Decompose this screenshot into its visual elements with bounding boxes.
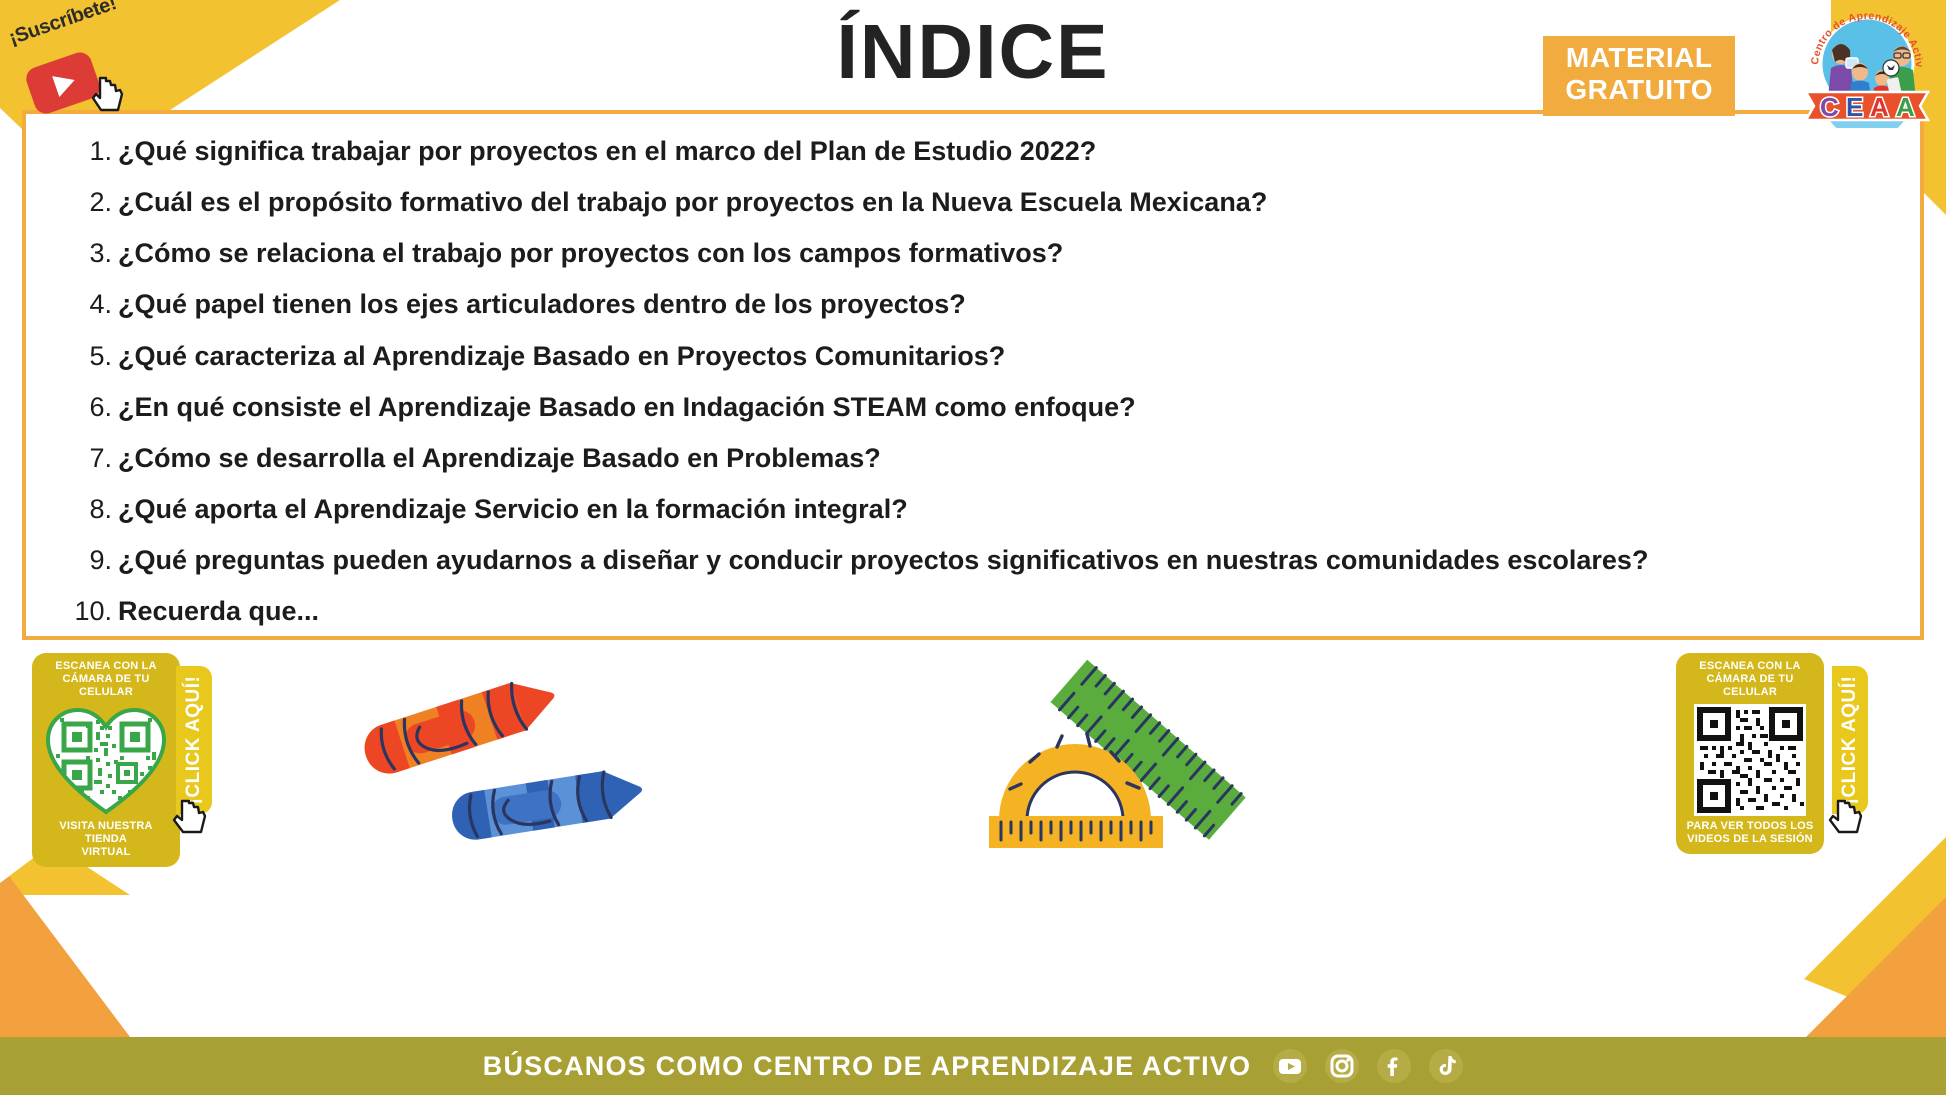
list-item-text: Recuerda que...	[118, 596, 319, 626]
facebook-icon[interactable]	[1377, 1049, 1411, 1083]
instagram-icon[interactable]	[1325, 1049, 1359, 1083]
social-links	[1273, 1049, 1463, 1083]
click-here-tab-videos[interactable]: ¡CLICK AQUÍ!	[1832, 666, 1868, 814]
tiktok-icon[interactable]	[1429, 1049, 1463, 1083]
qr-left-caption-top-line2: CÁMARA DE TU CELULAR	[38, 673, 174, 699]
qr-left-caption-bottom-line1: VISITA NUESTRA TIENDA	[38, 820, 174, 846]
click-here-tab-store[interactable]: ¡CLICK AQUÍ!	[176, 666, 212, 814]
index-frame: ¿Qué significa trabajar por proyectos en…	[22, 110, 1924, 640]
qr-code-heart-icon[interactable]	[42, 704, 170, 816]
qr-right-caption-top-line2: CÁMARA DE TU CELULAR	[1682, 673, 1818, 699]
list-item: ¿Cómo se relaciona el trabajo por proyec…	[60, 234, 1886, 273]
material-gratuito-badge: MATERIAL GRATUITO	[1543, 36, 1735, 116]
list-item-text: ¿En qué consiste el Aprendizaje Basado e…	[118, 392, 1136, 422]
list-item-text: ¿Cómo se relaciona el trabajo por proyec…	[118, 238, 1063, 268]
footer-bar: BÚSCANOS COMO CENTRO DE APRENDIZAJE ACTI…	[0, 1037, 1946, 1095]
qr-code-icon[interactable]	[1686, 704, 1814, 816]
list-item-text: ¿Qué preguntas pueden ayudarnos a diseña…	[118, 541, 1886, 580]
list-item-text: ¿Qué papel tienen los ejes articuladores…	[118, 289, 966, 319]
svg-text:A: A	[1870, 92, 1889, 122]
svg-text:A: A	[1896, 92, 1915, 122]
qr-right-caption-bottom-line1: PARA VER TODOS LOS	[1682, 820, 1818, 833]
pointer-hand-icon	[92, 72, 134, 114]
qr-left-caption-bottom-line2: VIRTUAL	[38, 846, 174, 859]
school-supplies-illustration	[985, 650, 1275, 855]
crayons-illustration	[352, 658, 672, 853]
subscribe-badge[interactable]: ¡Suscríbete!	[8, 14, 188, 124]
list-item: ¿Qué aporta el Aprendizaje Servicio en l…	[60, 490, 1886, 529]
svg-text:E: E	[1846, 92, 1863, 122]
pointer-hand-icon	[1828, 793, 1872, 840]
list-item: ¿Qué caracteriza al Aprendizaje Basado e…	[60, 337, 1886, 376]
click-here-label: ¡CLICK AQUÍ!	[183, 676, 205, 805]
material-line-2: GRATUITO	[1565, 74, 1713, 106]
list-item: Recuerda que...	[60, 592, 1886, 631]
slide-canvas: ¡Suscríbete! ÍNDICE MATERIAL GRATUITO	[0, 0, 1946, 1095]
youtube-icon[interactable]	[1273, 1049, 1307, 1083]
click-here-label: ¡CLICK AQUÍ!	[1839, 676, 1861, 805]
qr-card-videos[interactable]: ESCANEA CON LA CÁMARA DE TU CELULAR	[1676, 653, 1824, 854]
ceaa-logo: Centro de Aprendizaje Activo C E A A	[1802, 6, 1932, 128]
list-item: ¿Qué preguntas pueden ayudarnos a diseña…	[60, 541, 1886, 580]
pointer-hand-icon	[172, 793, 216, 840]
list-item-text: ¿Cómo se desarrolla el Aprendizaje Basad…	[118, 443, 881, 473]
footer-text: BÚSCANOS COMO CENTRO DE APRENDIZAJE ACTI…	[483, 1051, 1251, 1082]
list-item: ¿Cuál es el propósito formativo del trab…	[60, 183, 1886, 222]
list-item-text: ¿Qué caracteriza al Aprendizaje Basado e…	[118, 341, 1005, 371]
list-item: ¿Qué significa trabajar por proyectos en…	[60, 132, 1886, 171]
qr-left-caption-top-line1: ESCANEA CON LA	[38, 660, 174, 673]
material-line-1: MATERIAL	[1565, 42, 1713, 74]
list-item: ¿En qué consiste el Aprendizaje Basado e…	[60, 388, 1886, 427]
list-item: ¿Qué papel tienen los ejes articuladores…	[60, 285, 1886, 324]
svg-text:C: C	[1820, 92, 1839, 122]
list-item-text: ¿Cuál es el propósito formativo del trab…	[118, 187, 1267, 217]
qr-card-store[interactable]: ESCANEA CON LA CÁMARA DE TU CELULAR	[32, 653, 180, 867]
qr-right-caption-bottom-line2: VIDEOS DE LA SESIÓN	[1682, 833, 1818, 846]
qr-right-caption-top-line1: ESCANEA CON LA	[1682, 660, 1818, 673]
youtube-play-icon	[23, 49, 103, 117]
list-item: ¿Cómo se desarrolla el Aprendizaje Basad…	[60, 439, 1886, 478]
list-item-text: ¿Qué aporta el Aprendizaje Servicio en l…	[118, 494, 908, 524]
index-list: ¿Qué significa trabajar por proyectos en…	[60, 132, 1886, 631]
list-item-text: ¿Qué significa trabajar por proyectos en…	[118, 136, 1096, 166]
